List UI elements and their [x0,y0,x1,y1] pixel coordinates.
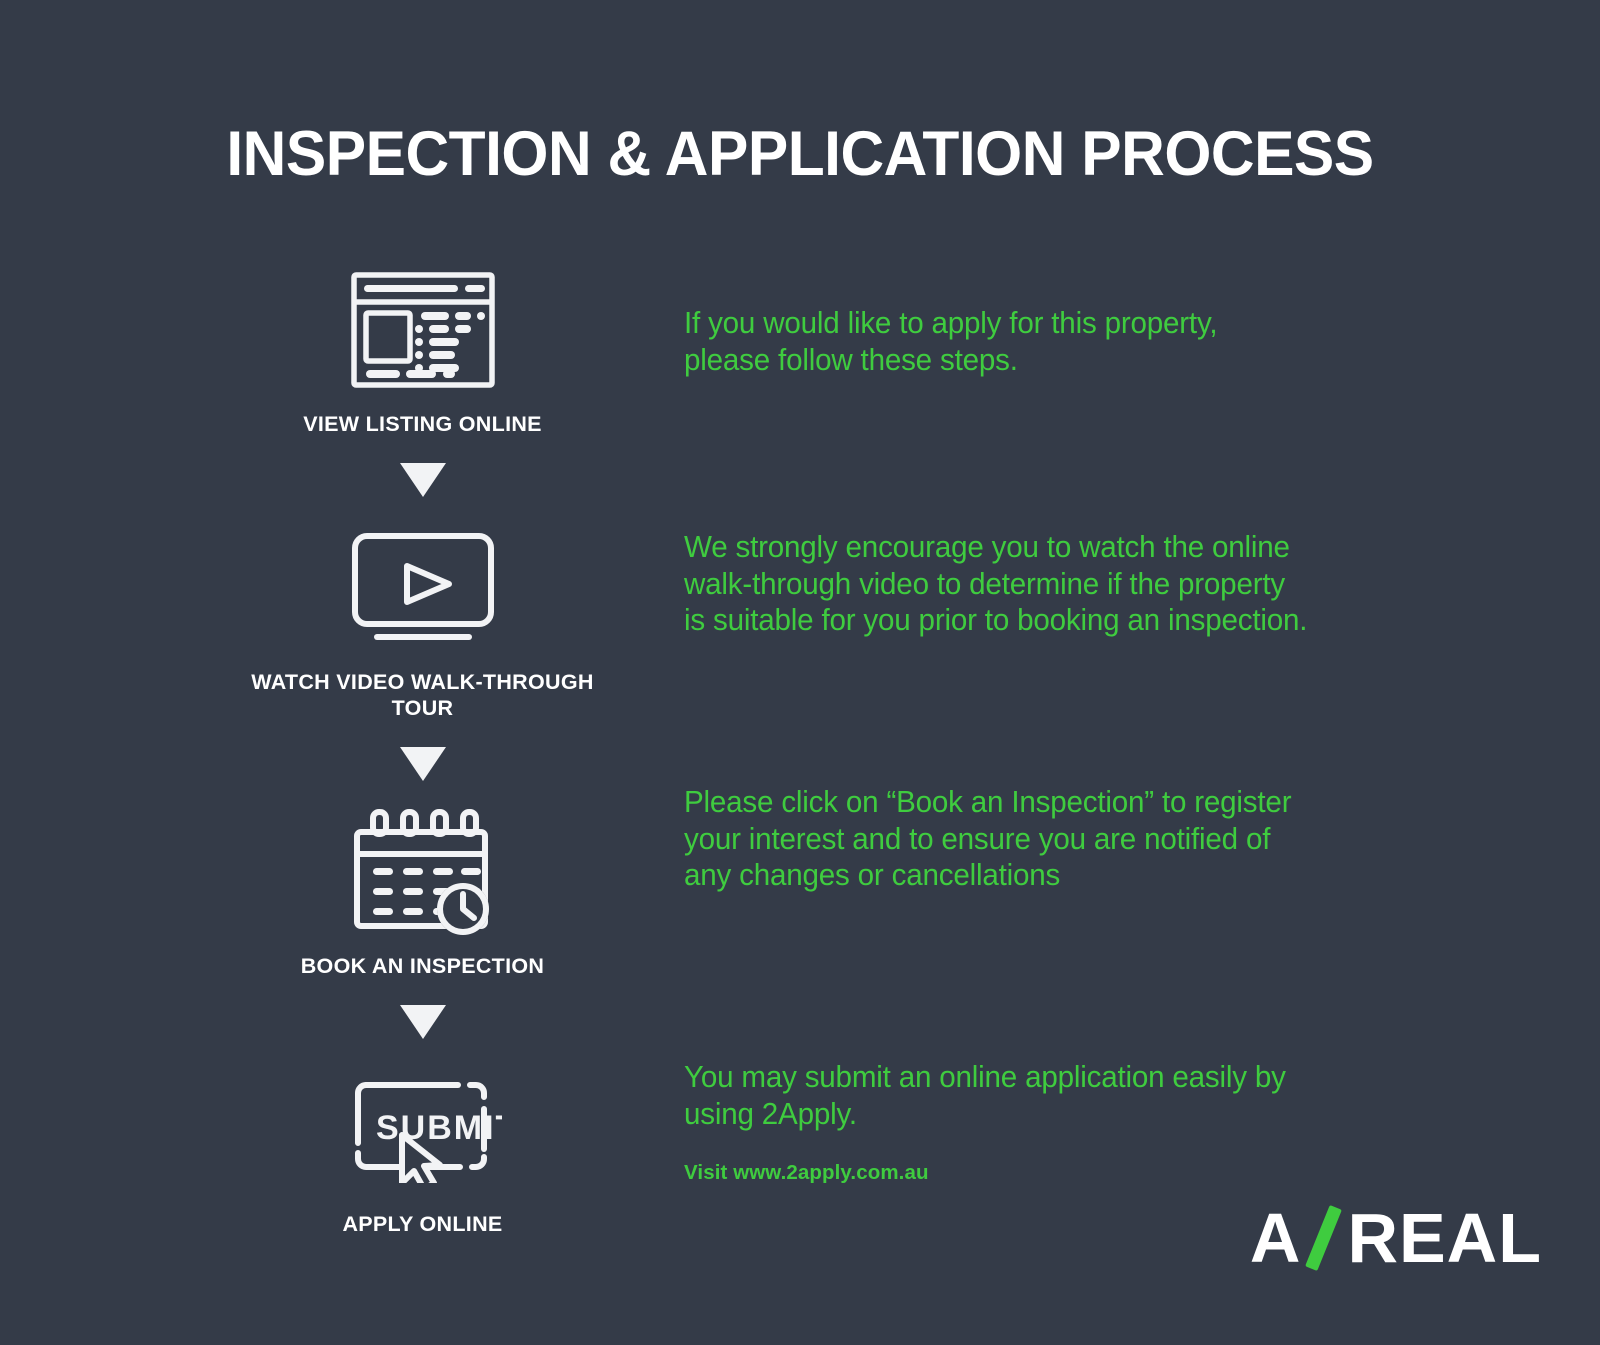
logo-wordmark: REAL [1347,1203,1542,1273]
step-apply-online: SUBMIT APPLY ONLINE [230,1065,615,1237]
description-book-inspection: Please click on “Book an Inspection” to … [684,784,1291,894]
arrow-down-icon [230,1005,615,1039]
step-label: APPLY ONLINE [230,1211,615,1237]
description-apply-online: You may submit an online application eas… [684,1059,1286,1132]
page-title: INSPECTION & APPLICATION PROCESS [32,118,1568,190]
visit-website-link[interactable]: Visit www.2apply.com.au [684,1161,929,1185]
submit-button-cursor-icon: SUBMIT [230,1065,615,1195]
description-watch-video: We strongly encourage you to watch the o… [684,529,1307,639]
description-view-listing: If you would like to apply for this prop… [684,305,1217,378]
arrow-down-icon [230,747,615,781]
listing-window-icon [230,265,615,395]
infographic-poster: INSPECTION & APPLICATION PROCESS [0,0,1600,1345]
logo-letter-a: A [1250,1203,1302,1273]
arrow-down-icon [230,463,615,497]
step-label: BOOK AN INSPECTION [230,953,615,979]
brand-logo: A REAL [1250,1203,1542,1273]
step-watch-video: WATCH VIDEO WALK-THROUGH TOUR [230,523,615,721]
video-monitor-play-icon [230,523,615,653]
steps-column: VIEW LISTING ONLINE WATCH VIDEO WALK-THR… [230,265,615,1237]
calendar-clock-icon [230,807,615,937]
logo-slash-icon [1303,1203,1345,1273]
submit-icon-label: SUBMIT [376,1109,502,1147]
step-view-listing-online: VIEW LISTING ONLINE [230,265,615,437]
step-book-inspection: BOOK AN INSPECTION [230,807,615,979]
step-label: WATCH VIDEO WALK-THROUGH TOUR [230,669,615,721]
step-label: VIEW LISTING ONLINE [230,411,615,437]
